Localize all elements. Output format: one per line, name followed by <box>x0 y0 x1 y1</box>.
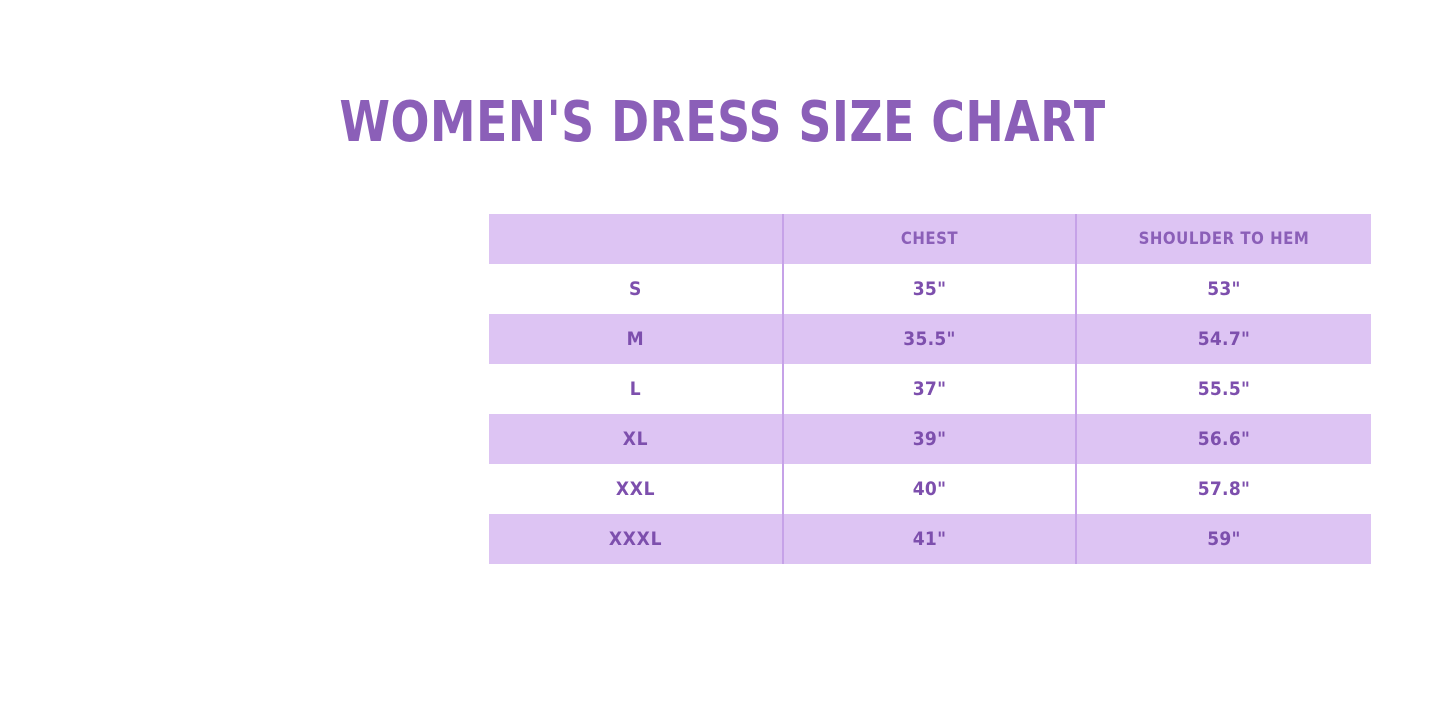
cell-size: L <box>504 364 769 414</box>
size-chart-table: CHEST SHOULDER TO HEM S 35" 53" M 35.5" … <box>489 214 1371 564</box>
column-header-size <box>507 214 766 264</box>
table-row: L 37" 55.5" <box>489 364 1371 414</box>
cell-shoulder-to-hem: 55.5" <box>1091 364 1357 414</box>
column-header-shoulder-to-hem: SHOULDER TO HEM <box>1094 214 1354 264</box>
cell-shoulder-to-hem: 57.8" <box>1091 464 1357 514</box>
column-header-chest: CHEST <box>801 214 1059 264</box>
cell-shoulder-to-hem: 54.7" <box>1091 314 1357 364</box>
cell-shoulder-to-hem: 56.6" <box>1091 414 1357 464</box>
cell-chest: 35" <box>798 264 1062 314</box>
cell-chest: 35.5" <box>798 314 1062 364</box>
cell-size: XL <box>504 414 769 464</box>
page-title: WOMEN'S DRESS SIZE CHART <box>130 94 1315 153</box>
table-row: S 35" 53" <box>489 264 1371 314</box>
cell-chest: 40" <box>798 464 1062 514</box>
table-row: XXXL 41" 59" <box>489 514 1371 564</box>
cell-size: M <box>504 314 769 364</box>
table-row: XL 39" 56.6" <box>489 414 1371 464</box>
cell-chest: 37" <box>798 364 1062 414</box>
table-header-row: CHEST SHOULDER TO HEM <box>489 214 1371 264</box>
table-body: S 35" 53" M 35.5" 54.7" L 37" 55.5" XL 3… <box>489 264 1371 564</box>
cell-chest: 41" <box>798 514 1062 564</box>
table-row: XXL 40" 57.8" <box>489 464 1371 514</box>
cell-shoulder-to-hem: 59" <box>1091 514 1357 564</box>
cell-size: S <box>504 264 769 314</box>
size-chart-page: WOMEN'S DRESS SIZE CHART CHEST SHOULDER … <box>0 0 1445 723</box>
table-header: CHEST SHOULDER TO HEM <box>489 214 1371 264</box>
cell-shoulder-to-hem: 53" <box>1091 264 1357 314</box>
cell-chest: 39" <box>798 414 1062 464</box>
table-row: M 35.5" 54.7" <box>489 314 1371 364</box>
cell-size: XXL <box>504 464 769 514</box>
cell-size: XXXL <box>504 514 769 564</box>
